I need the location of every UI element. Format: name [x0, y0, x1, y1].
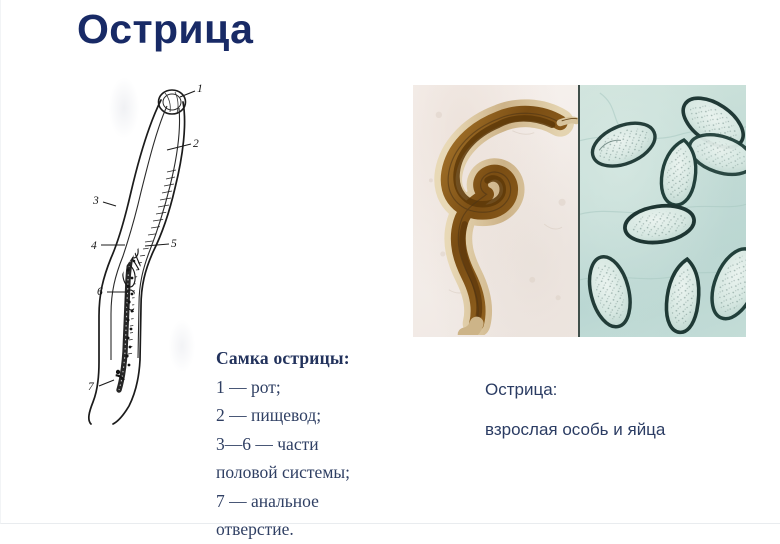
micrograph-caption-line-1: Острица: — [485, 370, 755, 410]
egg — [623, 202, 697, 247]
legend-heading: Самка острицы: — [216, 344, 406, 373]
page-title: Острица — [77, 6, 253, 53]
diagram-label-6: 6 — [97, 286, 103, 298]
legend-item-1: 1 — рот; — [216, 373, 406, 402]
egg — [586, 115, 661, 175]
worm-body-outline — [89, 90, 186, 424]
diagram-label-7: 7 — [88, 381, 95, 393]
legend-block: Самка острицы: 1 — рот; 2 — пищевод; 3—6… — [216, 344, 406, 544]
legend-item-3-cont: половой системы; — [216, 458, 406, 487]
micrograph-caption: Острица: взрослая особь и яйца — [485, 370, 755, 450]
diagram-label-4: 4 — [91, 240, 97, 252]
legend-item-7: 7 — анальное — [216, 487, 406, 516]
legend-item-2: 2 — пищевод; — [216, 401, 406, 430]
legend-item-7-cont: отверстие. — [216, 515, 406, 544]
pinworm-eggs-micrograph — [578, 85, 746, 337]
legend-item-3: 3—6 — части — [216, 430, 406, 459]
micrograph-caption-line-2: взрослая особь и яйца — [485, 410, 755, 450]
egg — [583, 252, 637, 331]
diagram-label-3: 3 — [92, 195, 99, 207]
egg — [664, 257, 703, 333]
adult-pinworm-micrograph — [413, 85, 578, 337]
worm-internal-organs — [111, 112, 176, 390]
diagram-label-2: 2 — [193, 138, 199, 150]
slide-canvas: Острица — [0, 0, 780, 524]
diagram-label-1: 1 — [197, 83, 203, 95]
diagram-label-5: 5 — [171, 238, 177, 250]
micrograph-panel — [413, 85, 746, 337]
egg — [703, 242, 746, 325]
